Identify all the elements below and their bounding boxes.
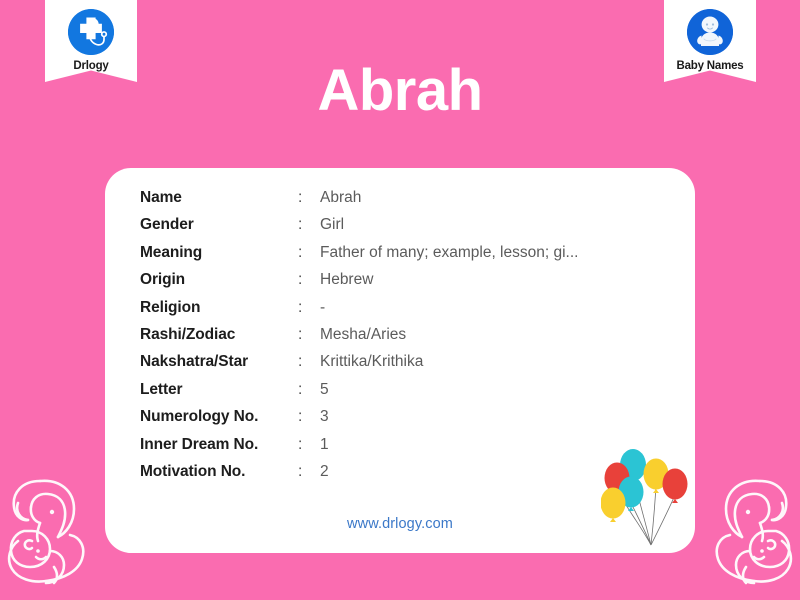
row-separator: : <box>298 326 320 344</box>
row-value-religion: - <box>320 299 670 317</box>
row-separator: : <box>298 463 320 481</box>
table-row: Nakshatra/Star : Krittika/Krithika <box>140 353 670 380</box>
website-url[interactable]: www.drlogy.com <box>105 516 695 532</box>
row-separator: : <box>298 408 320 426</box>
baby-icon <box>687 9 733 55</box>
row-separator: : <box>298 244 320 262</box>
drlogy-medical-cross-doctor-icon <box>68 9 114 55</box>
row-value-name: Abrah <box>320 189 670 207</box>
row-label-meaning: Meaning <box>140 244 298 262</box>
page-title: Abrah <box>0 62 800 120</box>
row-separator: : <box>298 271 320 289</box>
row-label-letter: Letter <box>140 381 298 399</box>
row-label-inner-dream-no: Inner Dream No. <box>140 436 298 454</box>
name-card-page: Drlogy Baby Names Abrah Name : Abrah <box>0 0 800 600</box>
row-separator: : <box>298 189 320 207</box>
row-value-letter: 5 <box>320 381 670 399</box>
row-value-numerology-no: 3 <box>320 408 670 426</box>
table-row: Numerology No. : 3 <box>140 408 670 435</box>
row-separator: : <box>298 216 320 234</box>
name-details-card: Name : Abrah Gender : Girl Meaning : Fat… <box>105 168 695 553</box>
row-value-nakshatra-star: Krittika/Krithika <box>320 353 670 371</box>
table-row: Motivation No. : 2 <box>140 463 670 490</box>
row-label-origin: Origin <box>140 271 298 289</box>
row-label-rashi-zodiac: Rashi/Zodiac <box>140 326 298 344</box>
row-label-gender: Gender <box>140 216 298 234</box>
row-value-origin: Hebrew <box>320 271 670 289</box>
table-row: Religion : - <box>140 299 670 326</box>
row-separator: : <box>298 299 320 317</box>
table-row: Gender : Girl <box>140 216 670 243</box>
row-separator: : <box>298 353 320 371</box>
name-details-table: Name : Abrah Gender : Girl Meaning : Fat… <box>140 189 670 490</box>
row-value-rashi-zodiac: Mesha/Aries <box>320 326 670 344</box>
row-label-nakshatra-star: Nakshatra/Star <box>140 353 298 371</box>
table-row: Rashi/Zodiac : Mesha/Aries <box>140 326 670 353</box>
table-row: Origin : Hebrew <box>140 271 670 298</box>
table-row: Letter : 5 <box>140 381 670 408</box>
table-row: Meaning : Father of many; example, lesso… <box>140 244 670 271</box>
row-label-religion: Religion <box>140 299 298 317</box>
mother-and-baby-icon-right <box>692 463 800 598</box>
row-value-inner-dream-no: 1 <box>320 436 670 454</box>
row-value-motivation-no: 2 <box>320 463 670 481</box>
row-value-gender: Girl <box>320 216 670 234</box>
row-label-motivation-no: Motivation No. <box>140 463 298 481</box>
row-value-meaning: Father of many; example, lesson; gi... <box>320 244 670 262</box>
row-separator: : <box>298 436 320 454</box>
table-row: Inner Dream No. : 1 <box>140 436 670 463</box>
table-row: Name : Abrah <box>140 189 670 216</box>
row-separator: : <box>298 381 320 399</box>
mother-and-baby-icon-left <box>0 463 108 598</box>
row-label-numerology-no: Numerology No. <box>140 408 298 426</box>
row-label-name: Name <box>140 189 298 207</box>
